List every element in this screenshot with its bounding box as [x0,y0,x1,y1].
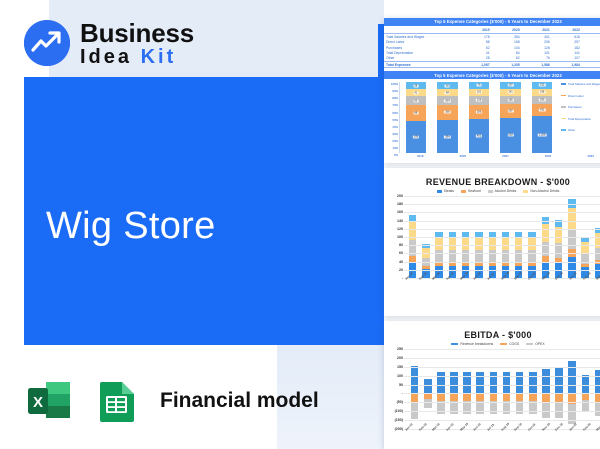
table-cell: 1,984 [552,62,582,68]
stacked-bar-segment: 431 [532,104,553,117]
table-cell: 1,586 [522,62,552,68]
axis-tick-label: 140 [386,219,403,223]
stacked-bar-segment: 354 [437,120,458,153]
bar-negative [463,401,471,414]
stacked-bar-segment: 182 [500,96,521,105]
legend-item: Non-Alcohol Drinks [523,189,559,193]
chart-column [408,349,421,429]
axis-tick-label: (150) [386,418,403,422]
stacked-y-axis: 100%90%80%70%60%50%40%30%20%10%0% [386,82,399,153]
bar-negative [503,401,511,414]
bar-negative [463,393,471,400]
bar-value-label: 206 [476,111,482,114]
stacked-bar-segment [555,227,562,243]
legend-item: Revenue breakdowns [451,342,493,346]
stacked-bar-segment [542,242,549,257]
legend-label: Total Depreciation [568,117,591,121]
stacked-bar-segment: 84 [437,89,458,96]
ebitda-chart-title: EBITDA - $'000 [384,321,600,342]
stacked-bar-segment [581,254,588,264]
legend-label: Revenue breakdowns [460,342,493,346]
axis-tick-label: 90% [392,89,398,93]
chart-column [566,349,579,429]
stacked-bar: 28415288178 [406,82,427,153]
bar-negative [476,401,484,414]
axis-tick-label: 40% [392,125,398,129]
bar-positive [555,368,563,394]
stacked-bar-segment [475,237,482,250]
bar-negative [437,393,445,400]
bar-negative [529,401,537,414]
axis-tick-label: (50) [386,400,403,404]
stacked-bar-segment: 1,028 [532,116,553,153]
stacked-bar-segment [462,237,469,250]
legend-label: Alcohol Drinks [495,189,517,193]
legend-swatch [561,83,566,85]
chart-column [539,349,552,429]
svg-text:X: X [33,394,43,411]
axis-tick-label: 60% [392,111,398,115]
legend-swatch [500,343,507,345]
legend-label: Steaks [444,189,454,193]
legend-label: Other [568,128,575,132]
bar-negative [516,401,524,414]
legend-label: Total Salaries and Wages [568,82,600,86]
axis-tick-label: 80 [386,243,403,247]
google-sheets-file-icon [90,374,144,428]
legend-label: OPEX [535,342,544,346]
brand-line-1: Business [80,20,194,46]
bar-negative [555,402,563,418]
stacked-bar-segment [449,250,456,261]
ebitda-chart-legend: Revenue breakdownsCOGSOPEX [384,342,600,349]
expense-table: 20192020202120222023 Total Salaries and … [384,28,600,69]
axis-tick-label: 70% [392,103,398,107]
bar-value-label: 354 [444,135,450,138]
bar-value-label: 104 [444,99,450,102]
bar-value-label: 84 [445,91,450,94]
legend-item: Alcohol Drinks [488,189,517,193]
legend-item: Other [561,128,600,132]
stacked-bar-segment: 297 [500,104,521,117]
ebitda-bars [408,349,600,429]
bar-value-label: 141 [507,91,513,94]
bar-positive [595,370,600,393]
ebitda-chart-body: 25020015010050-(50)(100)(150)(200) Jan-1… [384,349,600,429]
bar-value-label: 618 [507,134,513,137]
bar-value-label: 126 [476,99,482,102]
legend-label: Non-Alcohol Drinks [530,189,559,193]
axis-tick-label: 2021 [492,154,520,158]
stacked-bar-segment [489,250,496,261]
bar-value-label: 431 [539,108,545,111]
stacked-bar-segment [489,237,496,250]
stacked-bar-segment [528,237,535,250]
bar-value-label: 28 [413,84,418,87]
axis-tick-label: 2022 [534,154,562,158]
stacked-bar-segment: 198 [532,89,553,96]
bar-negative [516,393,524,400]
chart-column [592,349,600,429]
axis-tick-label: 100 [386,374,403,378]
stacked-bar-segment [515,237,522,250]
axis-tick-label: 30% [392,132,398,136]
brand-line-2: Idea Kit [80,47,194,67]
legend-swatch [561,118,566,120]
chart-column [487,349,500,429]
legend-swatch [461,190,466,193]
axis-tick-label: 80% [392,96,398,100]
format-label: Financial model [160,389,319,413]
bar-value-label: 101 [476,91,482,94]
axis-tick-label: 2019 [406,154,434,158]
bar-value-label: 1,028 [538,133,547,136]
stacked-bar-segment: 104 [437,96,458,105]
stacked-bar-segment [475,250,482,261]
bar-value-label: 178 [413,135,419,138]
stacked-bar-segment [449,237,456,250]
bar-negative [595,393,600,401]
stacked-legend: Total Salaries and WagesDirect LaborPurc… [558,82,600,153]
brand-kit-text: Kit [141,46,177,68]
bar-negative [542,402,550,418]
expense-stacked-chart: 100%90%80%70%60%50%40%30%20%10%0% 284152… [384,79,600,153]
stacked-bar: 6284104168354 [437,82,458,153]
chart-arrow-circle-icon [24,20,70,66]
stacked-bar-segment: 126 [469,96,490,105]
sheet-ebitda[interactable]: EBITDA - $'000 Revenue breakdownsCOGSOPE… [384,321,600,449]
axis-tick-label: 250 [386,347,403,351]
stacked-plot-area: 2841528817862841041683547610112620640110… [399,82,558,153]
bar-value-label: 41 [413,91,418,94]
stacked-bar-segment [528,250,535,261]
stacked-bar-segment: 178 [406,121,427,154]
bar-value-label: 107 [507,84,513,87]
stacked-bar-segment: 206 [469,105,490,119]
stacked-bar-segment: 88 [406,105,427,121]
legend-item: Purchases [561,105,600,109]
stacked-bar: 76101126206401 [469,82,490,153]
axis-tick-label: 2023 [577,154,600,158]
table-total-row: Total Expenses1,0871,3351,5861,9842,314 [384,62,600,68]
legend-swatch [437,190,442,193]
bar-value-label: 76 [477,84,482,87]
bar-value-label: 263 [539,98,545,101]
bar-value-label: 62 [445,84,450,87]
bar-negative [450,401,458,414]
chart-column [461,349,474,429]
revenue-chart-body: 20018016014012010080604020- Jan-19Feb-19… [384,196,600,278]
ebitda-x-labels: Jan-19Feb-19Mar-19Apr-19May-19Jun-19Jul-… [404,429,600,433]
bar-negative [450,393,458,400]
bar-positive [542,369,550,394]
axis-tick-label: 120 [386,227,403,231]
brand-logo: Business Idea Kit [24,18,194,67]
axis-tick-label: 0% [394,153,398,157]
bar-negative [476,393,484,400]
axis-tick-label: 20 [386,268,403,272]
axis-tick-label: (200) [386,427,403,431]
brand-wordmark: Business Idea Kit [80,18,194,67]
axis-tick-label: 10% [392,146,398,150]
bar-negative [529,393,537,400]
legend-swatch [561,106,566,108]
chart-column [474,349,487,429]
axis-tick-label: 100 [386,235,403,239]
table-cell: 1,087 [462,62,492,68]
brand-idea-text: Idea [80,46,132,68]
bar-value-label: 401 [476,135,482,138]
axis-tick-label: 50 [386,383,403,387]
bar-value-label: 198 [539,91,545,94]
stacked-bar-segment: 618 [500,118,521,154]
table-cell: 1,335 [492,62,522,68]
chart-column [526,349,539,429]
stacked-bar-segment [581,242,588,253]
stacked-bar-segment: 401 [469,119,490,153]
stacked-bar: 1521982634311,028 [532,82,553,153]
stacked-bar-segment: 141 [500,89,521,96]
stacked-bar-segment [502,237,509,250]
bar-negative [490,401,498,414]
axis-tick-label: (100) [386,409,403,413]
revenue-x-labels: Jan-19Feb-19Mar-19Apr-19May-19Jun-19Jul-… [404,278,600,282]
axis-tick-label: 100% [391,82,398,86]
legend-label: Purchases [568,105,582,109]
chart-column [434,349,447,429]
expense-table-band-title: Top 5 Expense Categories ($'000) - 5 Yea… [384,18,600,26]
stacked-bar-segment: 168 [437,105,458,120]
legend-item: Total Salaries and Wages [561,82,600,86]
axis-tick-label: 180 [386,202,403,206]
poster-canvas: Business Idea Kit Wig Store X [0,0,600,449]
stacked-bar-segment: 41 [406,89,427,96]
axis-tick-label: 40 [386,260,403,264]
chart-column [579,349,592,429]
stacked-bar-segment [409,222,416,240]
bar-negative [595,402,600,416]
stacked-bar-segment: 52 [406,96,427,105]
format-footer: X Financial model [24,374,319,428]
stacked-bar-segment: 28 [406,82,427,89]
table-cell: 2,314 [582,62,600,68]
chart-column [421,349,434,429]
ebitda-plot: 25020015010050-(50)(100)(150)(200) [386,349,600,429]
bar-positive [411,366,419,393]
axis-tick-label: 200 [386,356,403,360]
chart-column [500,349,513,429]
stacked-bar-segment [515,250,522,261]
legend-swatch [561,95,566,97]
stacked-x-labels: 20192020202120222023 [384,153,600,158]
legend-swatch [523,190,528,193]
stacked-bar-segment [435,250,442,261]
axis-tick-label: 2020 [449,154,477,158]
bar-value-label: 182 [507,98,513,101]
bar-negative [490,393,498,400]
stacked-bar-segment [502,250,509,261]
table-row-label: Total Expenses [384,62,462,68]
legend-item: Seafood [461,189,481,193]
page-title: Wig Store [46,205,216,248]
stacked-bar [568,199,575,278]
legend-swatch [526,343,533,345]
legend-item: COGS [500,342,519,346]
bar-negative [411,393,419,402]
legend-swatch [488,190,493,193]
revenue-chart-legend: SteaksSeafoodAlcohol DrinksNon-Alcohol D… [384,189,600,196]
legend-label: Direct Labor [568,94,584,98]
revenue-plot: 20018016014012010080604020- [386,196,600,278]
bar-negative [542,393,550,402]
stacked-bar-segment [435,237,442,250]
stacked-bar-segment: 263 [532,96,553,104]
stacked-bar-segment [409,215,416,222]
axis-tick-label: - [386,276,403,280]
stacked-bar-segment [542,224,549,241]
stacked-bar: 107141182297618 [500,82,521,153]
legend-item: OPEX [526,342,544,346]
axis-tick-label: - [386,391,403,395]
excel-file-icon: X [24,374,78,428]
sheet-expense-categories[interactable]: Top 5 Expense Categories ($'000) - 5 Yea… [384,18,600,163]
bar-negative [555,393,563,402]
stacked-bar-segment: 101 [469,89,490,96]
bar-value-label: 168 [444,111,450,114]
expense-chart-band-title: Top 5 Expense Categories ($'000) - 5 Yea… [384,71,600,79]
bar-value-label: 297 [507,109,513,112]
bar-negative [424,399,432,409]
chart-column [447,349,460,429]
legend-item: Direct Labor [561,94,600,98]
legend-item: Total Depreciation [561,117,600,121]
bar-negative [568,393,576,404]
stacked-bar-segment [462,250,469,261]
axis-tick-label: 200 [386,194,403,198]
bar-value-label: 88 [413,111,418,114]
legend-label: COGS [509,342,519,346]
stacked-bar-segment: 62 [437,82,458,89]
bar-positive [424,379,432,394]
revenue-chart-title: REVENUE BREAKDOWN - $'000 [384,168,600,189]
sheet-revenue-breakdown[interactable]: REVENUE BREAKDOWN - $'000 SteaksSeafoodA… [384,168,600,316]
bar-negative [437,401,445,414]
legend-item: Steaks [437,189,454,193]
legend-swatch [561,129,566,131]
axis-tick-label: 60 [386,251,403,255]
axis-tick-label: 160 [386,210,403,214]
legend-swatch [451,343,458,345]
axis-tick-label: 50% [392,118,398,122]
chart-column [513,349,526,429]
stacked-bar-segment [568,230,575,249]
axis-tick-label: 150 [386,365,403,369]
chart-column [553,349,566,429]
bar-value-label: 52 [413,99,418,102]
axis-tick-label: 20% [392,139,398,143]
bar-negative [503,393,511,400]
stacked-bar-segment [595,248,600,260]
bar-value-label: 152 [539,84,545,87]
legend-label: Seafood [468,189,481,193]
